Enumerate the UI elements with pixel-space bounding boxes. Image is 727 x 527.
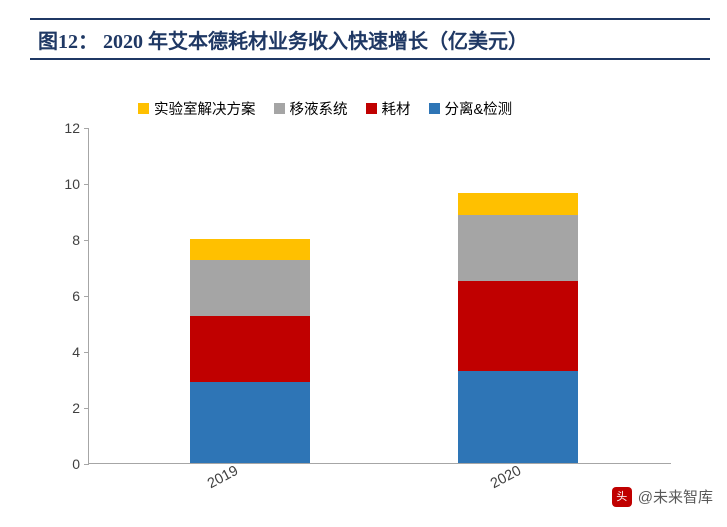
watermark-logo-icon: 头条 (612, 487, 632, 507)
bar-segment-2020-separation-detection[interactable] (458, 371, 578, 463)
x-tick-label-2019: 2019 (205, 463, 241, 492)
legend-swatch-consumables (366, 103, 377, 114)
legend-item-pipetting[interactable]: 移液系统 (274, 98, 348, 119)
y-tick-mark-2 (84, 408, 89, 409)
bar-column-2020 (458, 128, 578, 463)
watermark: 头条 @未来智库 (612, 486, 713, 507)
bar-segment-2020-lab-solutions[interactable] (458, 193, 578, 215)
y-tick-label-8: 8 (40, 232, 80, 248)
y-tick-label-2: 2 (40, 400, 80, 416)
y-tick-mark-0 (84, 464, 89, 465)
y-tick-label-0: 0 (40, 456, 80, 472)
y-tick-mark-6 (84, 296, 89, 297)
bar-segment-2019-consumables[interactable] (190, 316, 310, 382)
legend-swatch-separation-detection (429, 103, 440, 114)
chart-legend: 实验室解决方案 移液系统 耗材 分离&检测 (138, 98, 512, 119)
y-tick-mark-4 (84, 352, 89, 353)
y-tick-mark-10 (84, 184, 89, 185)
legend-label-consumables: 耗材 (382, 98, 411, 119)
chart-figure: 图12： 2020 年艾本德耗材业务收入快速增长（亿美元） 实验室解决方案 移液… (0, 0, 727, 517)
bar-segment-2019-separation-detection[interactable] (190, 382, 310, 463)
bar-column-2019 (190, 128, 310, 463)
legend-label-pipetting: 移液系统 (290, 98, 348, 119)
figure-title-banner: 图12： 2020 年艾本德耗材业务收入快速增长（亿美元） (30, 18, 710, 60)
bar-segment-2020-consumables[interactable] (458, 281, 578, 371)
bar-segment-2020-pipetting[interactable] (458, 215, 578, 281)
y-tick-label-4: 4 (40, 344, 80, 360)
y-tick-mark-8 (84, 240, 89, 241)
legend-swatch-lab-solutions (138, 103, 149, 114)
bar-segment-2019-pipetting[interactable] (190, 260, 310, 316)
legend-item-lab-solutions[interactable]: 实验室解决方案 (138, 98, 256, 119)
page-title: 图12： 2020 年艾本德耗材业务收入快速增长（亿美元） (38, 25, 528, 54)
legend-label-lab-solutions: 实验室解决方案 (154, 98, 256, 119)
bar-segment-2019-lab-solutions[interactable] (190, 239, 310, 260)
watermark-label: @未来智库 (638, 486, 713, 507)
legend-item-consumables[interactable]: 耗材 (366, 98, 411, 119)
y-tick-label-10: 10 (40, 176, 80, 192)
legend-item-separation-detection[interactable]: 分离&检测 (429, 98, 513, 119)
legend-swatch-pipetting (274, 103, 285, 114)
x-axis-line (88, 463, 671, 464)
y-tick-label-6: 6 (40, 288, 80, 304)
y-tick-label-12: 12 (40, 120, 80, 136)
y-tick-mark-12 (84, 128, 89, 129)
legend-label-separation-detection: 分离&检测 (445, 98, 513, 119)
x-tick-label-2020: 2020 (488, 463, 524, 492)
